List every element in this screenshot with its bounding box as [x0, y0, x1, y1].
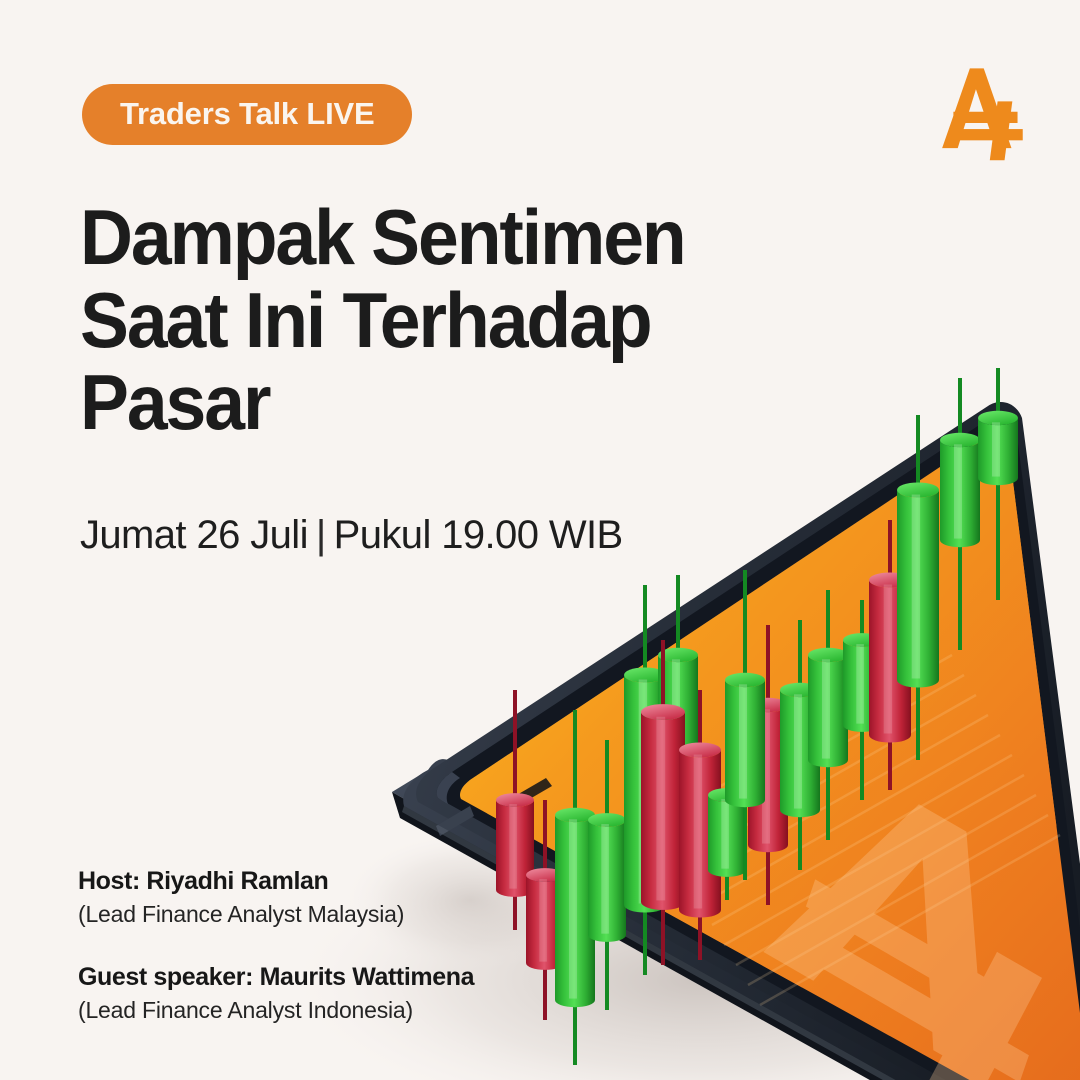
schedule-line: Jumat 26 Juli|Pukul 19.00 WIB	[80, 513, 623, 558]
guest-role: (Lead Finance Analyst Indonesia)	[78, 996, 474, 1026]
schedule-date: Jumat 26 Juli	[80, 513, 308, 557]
page-title: Dampak Sentimen Saat Ini Terhadap Pasar	[80, 196, 820, 444]
headline-line-3: Pasar	[80, 361, 776, 444]
speaker-credits: Host: Riyadhi Ramlan (Lead Finance Analy…	[78, 866, 474, 1026]
headline-line-1: Dampak Sentimen	[80, 196, 776, 279]
host-name: Host: Riyadhi Ramlan	[78, 866, 474, 897]
schedule-separator: |	[308, 513, 334, 557]
guest-name: Guest speaker: Maurits Wattimena	[78, 962, 474, 993]
live-badge: Traders Talk LIVE	[82, 84, 412, 145]
headline-line-2: Saat Ini Terhadap	[80, 279, 776, 362]
poster-canvas: Traders Talk LIVE Dampak Sentimen Saat I…	[0, 0, 1080, 1080]
credit-host: Host: Riyadhi Ramlan (Lead Finance Analy…	[78, 866, 474, 930]
letter-a-currency-logo	[930, 58, 1034, 162]
host-role: (Lead Finance Analyst Malaysia)	[78, 900, 474, 930]
schedule-time: Pukul 19.00 WIB	[334, 513, 623, 557]
credit-guest: Guest speaker: Maurits Wattimena (Lead F…	[78, 962, 474, 1026]
